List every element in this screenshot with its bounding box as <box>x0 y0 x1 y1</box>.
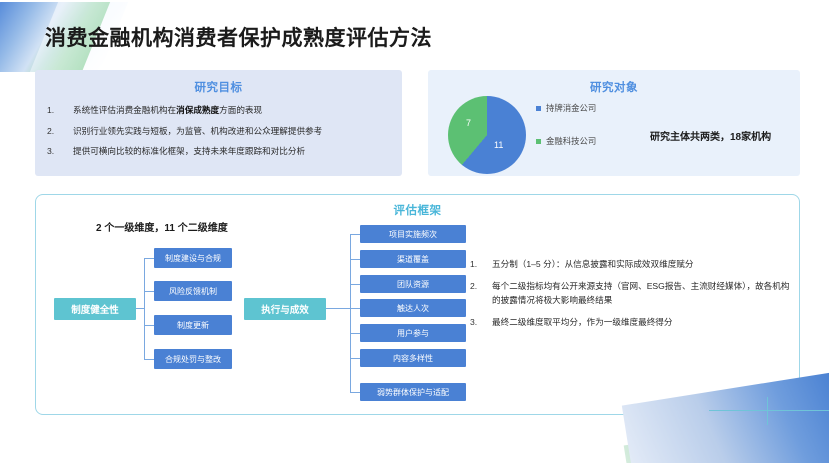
bottom-right-vertical-rule <box>767 397 768 425</box>
list-item: 1. 系统性评估消费金融机构在消保成熟度方面的表现 <box>35 105 402 117</box>
score-number: 2. <box>470 280 492 308</box>
connector-line <box>326 308 350 309</box>
score-text: 每个二级指标均有公开来源支持（官网、ESG报告、主流财经媒体），故各机构的披露情… <box>492 280 790 308</box>
research-goals-panel: 研究目标 1. 系统性评估消费金融机构在消保成熟度方面的表现 2. 识别行业领先… <box>35 70 402 176</box>
page-title: 消费金融机构消费者保护成熟度评估方法 <box>45 22 432 52</box>
connector-line <box>144 325 154 326</box>
score-number: 3. <box>470 316 492 330</box>
list-item: 3. 最终二级维度取平均分，作为一级维度最终得分 <box>470 316 790 330</box>
research-subjects-title: 研究对象 <box>428 79 800 95</box>
connector-line <box>350 284 360 285</box>
research-goals-title: 研究目标 <box>35 79 402 95</box>
sub-dimension-box-2-6[interactable]: 内容多样性 <box>360 349 466 367</box>
connector-line <box>350 234 360 235</box>
research-goals-list: 1. 系统性评估消费金融机构在消保成熟度方面的表现 2. 识别行业领先实践与短板… <box>35 105 402 158</box>
framework-title: 评估框架 <box>36 202 799 218</box>
connector-line <box>350 308 360 309</box>
connector-line <box>350 333 360 334</box>
pie-label-fintech: 7 <box>466 118 471 128</box>
connector-line <box>350 259 360 260</box>
connector-line <box>144 258 145 359</box>
score-text: 最终二级维度取平均分，作为一级维度最终得分 <box>492 316 790 330</box>
subjects-summary-note: 研究主体共两类，18家机构 <box>650 128 771 143</box>
subjects-pie-chart: 11 7 <box>448 96 526 174</box>
connector-line <box>350 392 360 393</box>
connector-line <box>144 291 154 292</box>
connector-line <box>350 234 351 392</box>
legend-label: 金融科技公司 <box>546 135 596 147</box>
slide-canvas: 消费金融机构消费者保护成熟度评估方法 研究目标 1. 系统性评估消费金融机构在消… <box>0 0 829 463</box>
sub-dimension-box-2-1[interactable]: 项目实施频次 <box>360 225 466 243</box>
goal-text: 识别行业领先实践与短板，为监管、机构改进和公众理解提供参考 <box>73 126 402 138</box>
pie-label-licensed: 11 <box>494 140 503 150</box>
list-item: 2. 每个二级指标均有公开来源支持（官网、ESG报告、主流财经媒体），故各机构的… <box>470 280 790 308</box>
connector-line <box>136 308 144 309</box>
legend-swatch-icon <box>536 106 541 111</box>
legend-label: 持牌消金公司 <box>546 102 596 114</box>
dimension-box-execution-effect[interactable]: 执行与成效 <box>244 298 326 320</box>
list-item: 2. 识别行业领先实践与短板，为监管、机构改进和公众理解提供参考 <box>35 126 402 138</box>
sub-dimension-box-1-2[interactable]: 风险反馈机制 <box>154 281 232 301</box>
sub-dimension-box-2-5[interactable]: 用户参与 <box>360 324 466 342</box>
goal-number: 1. <box>35 105 73 117</box>
goal-text: 提供可横向比较的标准化框架，支持未来年度跟踪和对比分析 <box>73 146 402 158</box>
connector-line <box>144 359 154 360</box>
pie-legend: 持牌消金公司 金融科技公司 <box>536 102 596 168</box>
list-item: 1. 五分制（1–5 分）：从信息披露和实际成效双维度赋分 <box>470 258 790 272</box>
bottom-right-horizontal-rule <box>709 410 829 411</box>
framework-subtitle: 2 个一级维度，11 个二级维度 <box>96 219 228 234</box>
dimension-box-institutional-soundness[interactable]: 制度健全性 <box>54 298 136 320</box>
legend-item-licensed: 持牌消金公司 <box>536 102 596 114</box>
sub-dimension-box-1-3[interactable]: 制度更新 <box>154 315 232 335</box>
sub-dimension-box-1-1[interactable]: 制度建设与合规 <box>154 248 232 268</box>
sub-dimension-box-2-2[interactable]: 渠道覆盖 <box>360 250 466 268</box>
research-subjects-panel: 研究对象 11 7 持牌消金公司 金融科技公司 研究主体共两类，18家机构 <box>428 70 800 176</box>
connector-line <box>350 358 360 359</box>
pie-slices <box>448 96 526 174</box>
sub-dimension-box-1-4[interactable]: 合规处罚与整改 <box>154 349 232 369</box>
sub-dimension-box-2-4[interactable]: 触达人次 <box>360 299 466 317</box>
list-item: 3. 提供可横向比较的标准化框架，支持未来年度跟踪和对比分析 <box>35 146 402 158</box>
score-text: 五分制（1–5 分）：从信息披露和实际成效双维度赋分 <box>492 258 790 272</box>
legend-swatch-icon <box>536 139 541 144</box>
sub-dimension-box-2-3[interactable]: 团队资源 <box>360 275 466 293</box>
scoring-rules-list: 1. 五分制（1–5 分）：从信息披露和实际成效双维度赋分 2. 每个二级指标均… <box>470 258 790 338</box>
goal-number: 2. <box>35 126 73 138</box>
goal-number: 3. <box>35 146 73 158</box>
connector-line <box>144 258 154 259</box>
score-number: 1. <box>470 258 492 272</box>
goal-text: 系统性评估消费金融机构在消保成熟度方面的表现 <box>73 105 402 117</box>
legend-item-fintech: 金融科技公司 <box>536 135 596 147</box>
sub-dimension-box-2-7[interactable]: 弱势群体保护与适配 <box>360 383 466 401</box>
